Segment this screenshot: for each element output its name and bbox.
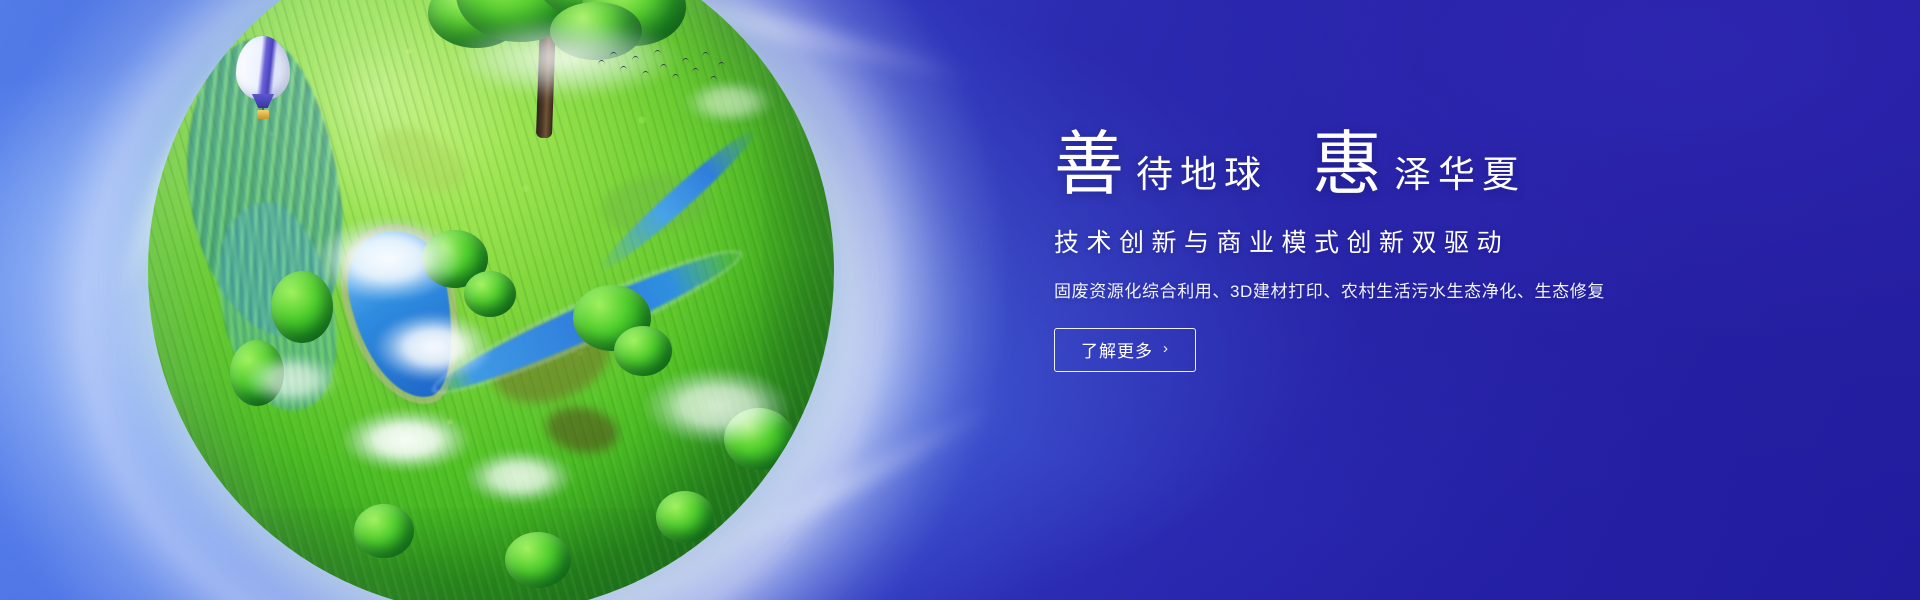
learn-more-label: 了解更多	[1081, 337, 1153, 362]
tree-canopy	[656, 491, 714, 543]
balloon-envelope	[236, 36, 290, 100]
bird-icon	[610, 52, 617, 58]
cloud-puff	[313, 216, 463, 302]
bird-icon	[682, 58, 689, 64]
tree-canopy	[505, 532, 571, 588]
hero-banner: 善 待地球 惠 泽华夏 技术创新与商业模式创新双驱动 固废资源化综合利用、3D建…	[0, 0, 1920, 600]
bird-icon	[718, 62, 725, 68]
bird-icon	[642, 71, 649, 77]
chevron-right-icon: ›	[1163, 341, 1169, 356]
headline-rest-1: 待地球	[1126, 157, 1268, 201]
cloud-puff	[642, 367, 792, 445]
headline-rest-2: 泽华夏	[1384, 157, 1526, 201]
cloud-puff	[374, 312, 494, 382]
cloud-puff	[244, 353, 340, 407]
balloon-basket	[257, 110, 269, 119]
learn-more-button[interactable]: 了解更多 ›	[1054, 328, 1196, 372]
banner-content: 善 待地球 惠 泽华夏 技术创新与商业模式创新双驱动 固废资源化综合利用、3D建…	[1054, 132, 1854, 372]
cloud-puff	[340, 408, 472, 472]
bird-icon	[692, 68, 699, 74]
tree-canopy	[354, 504, 414, 558]
bird-flock-icon	[596, 46, 726, 92]
banner-description: 固废资源化综合利用、3D建材打印、农村生活污水生态净化、生态修复	[1054, 277, 1854, 302]
bird-icon	[620, 66, 627, 72]
bird-icon	[672, 74, 679, 80]
bird-icon	[702, 52, 709, 58]
headline-lead-char-2: 惠	[1312, 132, 1384, 201]
banner-headline: 善 待地球 惠 泽华夏	[1054, 132, 1854, 201]
banner-subtitle: 技术创新与商业模式创新双驱动	[1054, 223, 1854, 259]
bird-icon	[654, 50, 661, 56]
bird-icon	[710, 76, 717, 82]
cloud-puff	[464, 449, 574, 505]
hot-air-balloon-icon	[236, 36, 290, 124]
headline-lead-char-1: 善	[1054, 132, 1126, 201]
tree-canopy	[464, 271, 516, 317]
bird-icon	[660, 64, 667, 70]
bird-icon	[598, 60, 605, 66]
tree-canopy	[614, 326, 672, 376]
bird-icon	[632, 56, 639, 62]
